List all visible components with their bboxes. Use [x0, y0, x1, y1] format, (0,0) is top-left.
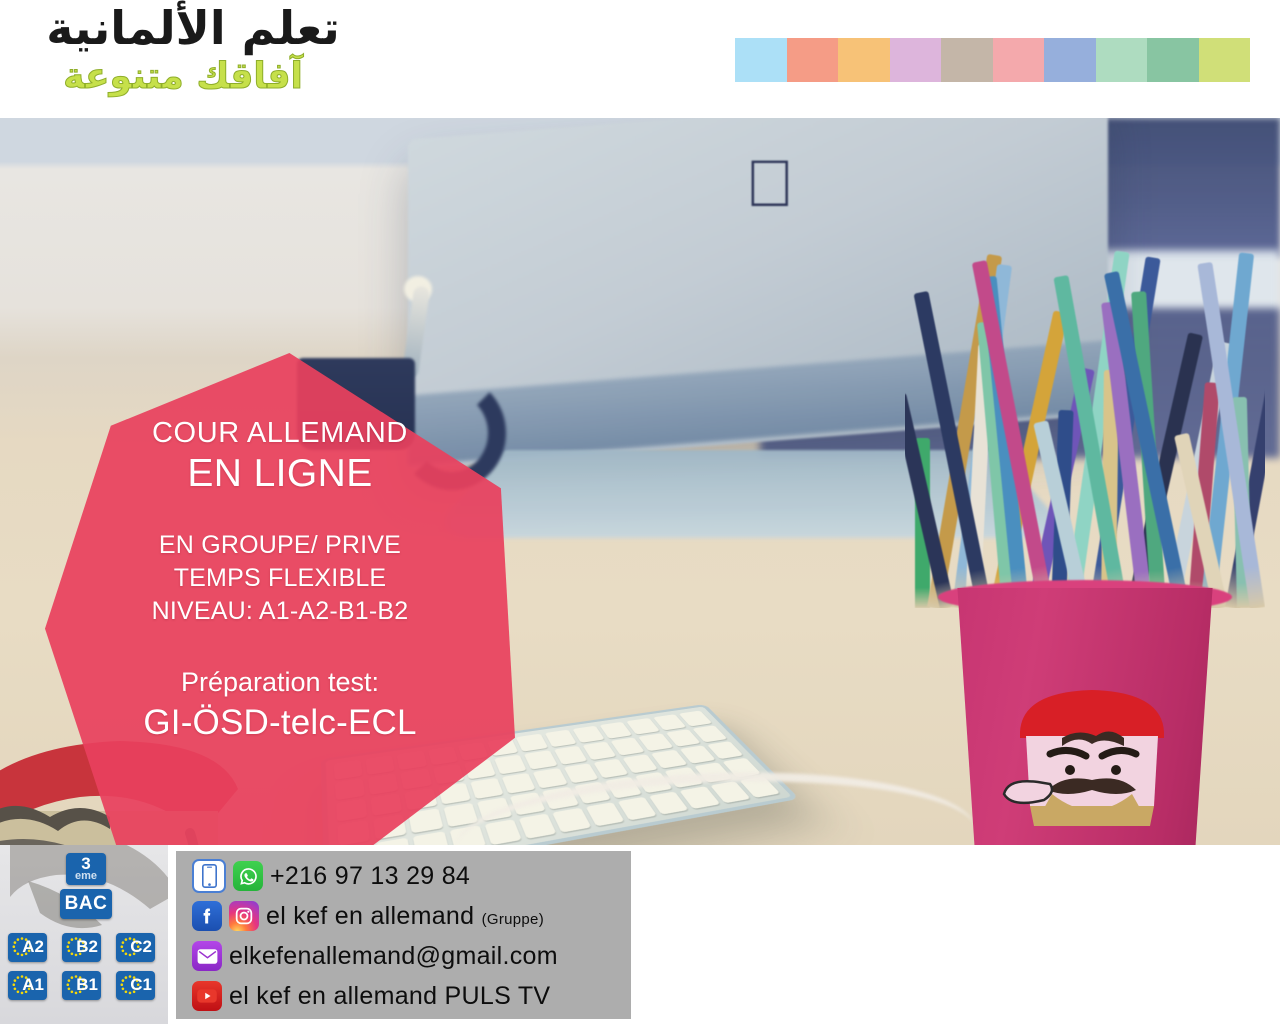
levels-panel: 3 eme BAC A2 B2 C2 A1 B1	[0, 845, 168, 1024]
apple-logo-icon: 	[745, 156, 799, 218]
palette-swatch-8	[1096, 38, 1148, 82]
footer: 3 eme BAC A2 B2 C2 A1 B1	[0, 845, 1280, 1024]
keyboard-key	[516, 734, 548, 752]
course-detail-group: EN GROUPE/ PRIVE	[45, 529, 515, 562]
badge-bac: BAC	[60, 889, 112, 919]
instagram-icon	[229, 901, 259, 931]
palette-swatch-10	[1199, 38, 1251, 82]
keyboard-key	[582, 742, 616, 760]
badge-3eme-suffix: eme	[75, 871, 97, 882]
badge-level-c1-label: C1	[130, 974, 152, 996]
keyboard-key	[533, 768, 568, 789]
badge-level-b1-label: B1	[76, 974, 98, 996]
keyboard-key	[611, 737, 645, 755]
badge-level-a1: A1	[8, 971, 47, 1000]
keyboard-key	[544, 730, 576, 747]
poster: تعلم الألمانية آفاقك متنوعة 	[0, 0, 1280, 1024]
badge-level-c2-label: C2	[130, 936, 152, 958]
keyboard-key	[563, 763, 598, 783]
course-detail-levels: NIVEAU: A1-A2-B1-B2	[45, 595, 515, 628]
badge-level-b2-label: B2	[76, 936, 98, 958]
email-icon	[192, 941, 222, 971]
keyboard-key	[572, 726, 604, 743]
palette-swatch-4	[890, 38, 942, 82]
exam-prep-list: GI-ÖSD-telc-ECL	[45, 700, 515, 746]
badge-3eme-number: 3	[81, 856, 90, 871]
social-handle: el kef en allemand	[266, 902, 474, 930]
color-palette-strip	[735, 38, 1250, 82]
social-note: (Gruppe)	[482, 911, 544, 928]
keyboard-key	[626, 718, 659, 734]
palette-swatch-9	[1147, 38, 1199, 82]
contact-phone-number: +216 97 13 29 84	[270, 862, 470, 891]
whatsapp-icon	[233, 861, 263, 891]
contact-email: elkefenallemand@gmail.com	[229, 942, 558, 971]
badge-level-a1-label: A1	[22, 974, 44, 996]
brand-arabic-subtitle: آفاقك متنوعة	[18, 58, 348, 96]
hexagon-text-block: COUR ALLEMAND EN LIGNE EN GROUPE/ PRIVE …	[45, 416, 515, 745]
badge-level-c2: C2	[116, 933, 155, 962]
palette-swatch-5	[941, 38, 993, 82]
palette-swatch-7	[1044, 38, 1096, 82]
contact-row-email[interactable]: elkefenallemand@gmail.com	[192, 937, 558, 975]
badge-level-c1: C1	[116, 971, 155, 1000]
course-title-line1: COUR ALLEMAND	[45, 416, 515, 450]
keyboard-key	[554, 746, 587, 765]
keyboard-key	[593, 759, 629, 779]
contact-youtube: el kef en allemand PULS TV	[229, 982, 550, 1011]
youtube-icon	[192, 981, 222, 1011]
badge-level-b2: B2	[62, 933, 101, 962]
badge-level-a2-label: A2	[22, 936, 44, 958]
palette-swatch-3	[838, 38, 890, 82]
header: تعلم الألمانية آفاقك متنوعة	[0, 0, 1280, 118]
contact-panel: +216 97 13 29 84 el kef en allemand (Gru…	[176, 851, 631, 1019]
facebook-icon	[192, 901, 222, 931]
contact-social-name: el kef en allemand (Gruppe)	[266, 902, 544, 931]
badge-3eme: 3 eme	[66, 853, 106, 885]
keyboard-key	[600, 722, 633, 739]
brand-arabic-title: تعلم الألمانية	[28, 4, 358, 52]
course-detail-schedule: TEMPS FLEXIBLE	[45, 562, 515, 595]
hexagon-callout: COUR ALLEMAND EN LIGNE EN GROUPE/ PRIVE …	[45, 236, 515, 845]
palette-swatch-6	[993, 38, 1045, 82]
palette-swatch-2	[787, 38, 839, 82]
mascot-face-on-cup-icon	[992, 674, 1192, 834]
smartphone-icon	[192, 859, 226, 893]
contact-row-social[interactable]: el kef en allemand (Gruppe)	[192, 897, 544, 935]
contact-row-youtube[interactable]: el kef en allemand PULS TV	[192, 977, 550, 1015]
keyboard-key	[524, 750, 557, 769]
photo-stage: 	[0, 118, 1280, 845]
exam-prep-label: Préparation test:	[45, 665, 515, 700]
contact-row-phone[interactable]: +216 97 13 29 84	[192, 857, 470, 895]
course-title-line2: EN LIGNE	[45, 450, 515, 499]
badge-level-a2: A2	[8, 933, 47, 962]
colored-pencils	[905, 238, 1265, 608]
palette-swatch-1	[735, 38, 787, 82]
badge-level-b1: B1	[62, 971, 101, 1000]
